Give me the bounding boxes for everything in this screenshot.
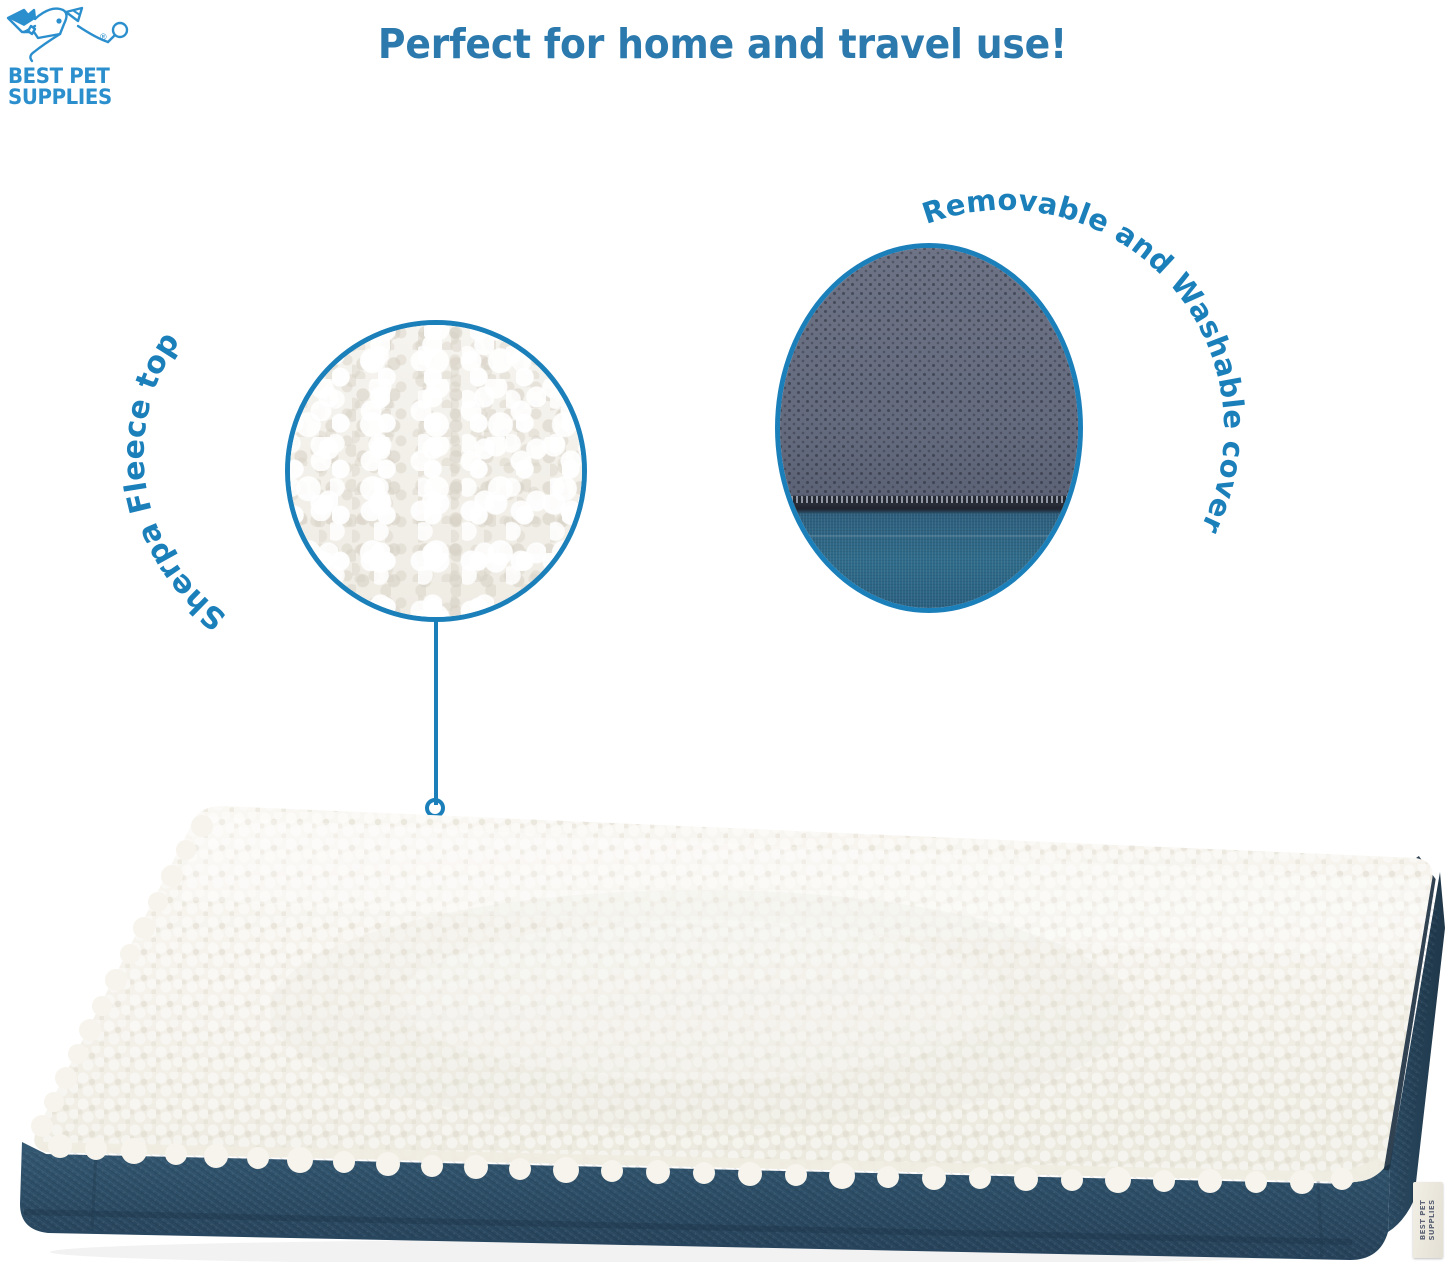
- base-fabric-seam: [776, 535, 1082, 537]
- bed-fleece-top: [0, 780, 1445, 1200]
- brand-name: BEST PET SUPPLIES: [8, 66, 145, 108]
- callout-sherpa-fleece-top: [285, 320, 587, 622]
- sherpa-fleece-swatch: [286, 321, 586, 621]
- brand-name-line2: SUPPLIES: [8, 87, 145, 108]
- headline-text: Perfect for home and travel use!: [58, 20, 1387, 68]
- base-fabric-weave: [776, 513, 1082, 612]
- callout-ring: [285, 320, 587, 622]
- callout-label-text: Sherpa Fleece top: [116, 326, 232, 637]
- product-tag-text: BEST PET SUPPLIES: [1419, 1199, 1437, 1240]
- product-feature-image: ® BEST PET SUPPLIES Perfect for home and…: [0, 0, 1445, 1262]
- product-tag-line1: BEST PET: [1419, 1199, 1428, 1240]
- svg-text:Sherpa Fleece top: Sherpa Fleece top: [116, 326, 232, 637]
- callout-removable-washable-cover: [775, 243, 1083, 613]
- callout-ring: [775, 243, 1083, 613]
- product-tag: BEST PET SUPPLIES: [1413, 1182, 1443, 1258]
- brand-name-line1: BEST PET: [8, 66, 145, 87]
- product-dog-bed: [0, 760, 1445, 1262]
- product-tag-line2: SUPPLIES: [1428, 1199, 1437, 1240]
- zipper-detail: [776, 496, 1082, 503]
- cover-detail-swatch: [776, 244, 1082, 612]
